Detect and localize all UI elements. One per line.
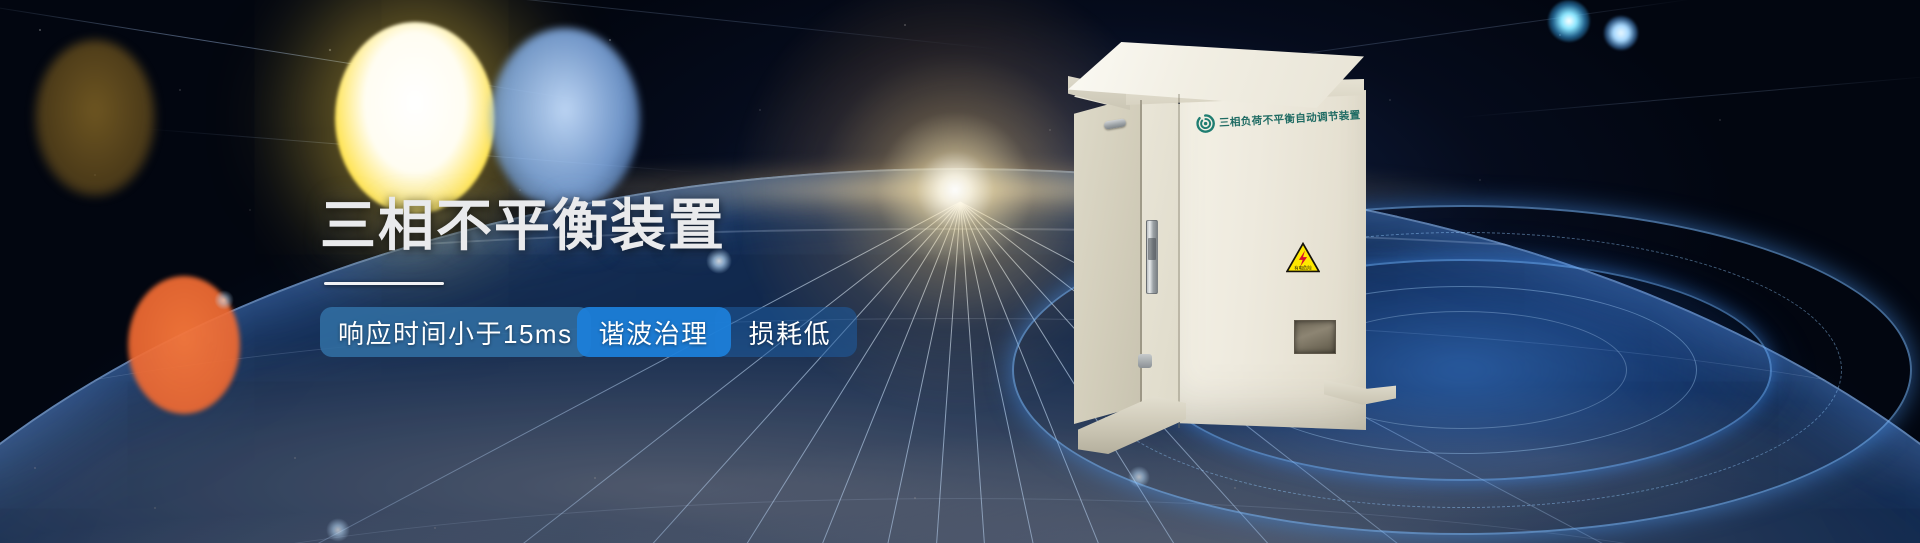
cabinet-side-panel	[1074, 94, 1146, 424]
cyan-spark-top	[1548, 0, 1590, 42]
cabinet-seam	[1178, 94, 1180, 428]
node-sparkle	[214, 290, 234, 310]
product-cabinet: 三相负荷不平衡自动调节装置 有电危险	[1060, 24, 1380, 444]
hazard-text: 有电危险	[1294, 265, 1312, 272]
cyan-spark-right	[1604, 16, 1638, 50]
electrical-hazard-icon: 有电危险	[1286, 242, 1320, 273]
page-title: 三相不平衡装置	[320, 196, 960, 256]
amber-bokeh	[35, 40, 155, 196]
yellow-white-bokeh	[335, 22, 495, 214]
cabinet-seam	[1140, 100, 1142, 422]
orbit-streak	[1461, 75, 1920, 118]
blue-bokeh	[490, 28, 640, 210]
door-latch-icon	[1138, 354, 1152, 368]
title-divider	[324, 282, 444, 285]
feature-pill-response-time[interactable]: 响应时间小于15ms	[320, 307, 591, 357]
feature-pill-low-loss[interactable]: 损耗低	[715, 307, 858, 357]
hero-copy: 三相不平衡装置 响应时间小于15ms 谐波治理 损耗低	[320, 196, 960, 357]
cabinet-front-panel	[1180, 90, 1366, 430]
product-hero-banner: 三相负荷不平衡自动调节装置 有电危险 三相不平衡装置 响应时间小于15ms 谐波…	[0, 0, 1920, 543]
node-sparkle	[1128, 466, 1150, 488]
door-lock-slot	[1148, 238, 1156, 260]
node-sparkle	[326, 518, 350, 542]
feature-pill-list: 响应时间小于15ms 谐波治理 损耗低	[320, 307, 960, 357]
ventilation-grille-icon	[1294, 320, 1336, 354]
circular-wave-logo-icon	[1196, 114, 1216, 134]
feature-pill-harmonic-control[interactable]: 谐波治理	[577, 307, 731, 357]
